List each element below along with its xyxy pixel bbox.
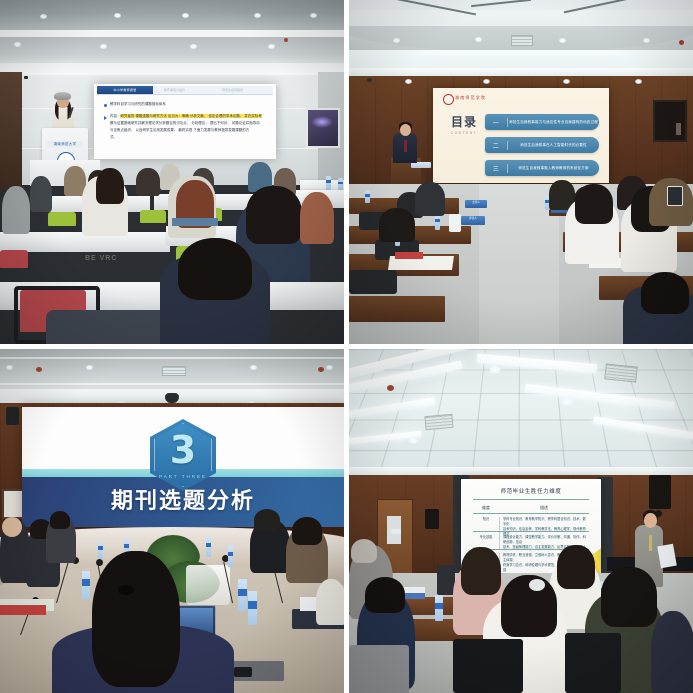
photo-bottom-right: 师范毕业生胜任力维度 维度 描述 知识 学科专业知识、教育教学知识、跨学科整合知… [349, 349, 693, 693]
bullet-triangle-icon [104, 116, 107, 120]
slide-menu-block: 目录 CONTENT [449, 116, 479, 135]
slide-menu-en: CONTENT [449, 131, 479, 135]
downlight-icon [561, 397, 573, 406]
ceiling-lower [0, 37, 344, 65]
wall-monitor [306, 108, 340, 148]
water-bottle [338, 178, 343, 190]
smoke-detector-icon [284, 38, 288, 42]
wall-top-trim [349, 467, 693, 475]
led-screen-bottom-left: 3 PART THREE 期刊选题分析 [22, 407, 344, 527]
downlight-icon [475, 37, 482, 42]
water-bottle [435, 595, 443, 621]
attendee-hair [50, 511, 70, 529]
downlight-icon [250, 365, 257, 370]
attendee-hair [601, 567, 657, 627]
lanyard [649, 535, 652, 551]
slide-item-text: 师范生自我叙事融入教师教育的系统化方案 [508, 166, 599, 171]
slide-row-dimension: 知识 [473, 517, 500, 537]
slide-heading: 教学科目学习与研究的课题指标体系 [110, 102, 166, 107]
scarf [172, 218, 218, 226]
chair-red [0, 250, 28, 268]
slide-section-number: 3 [150, 431, 216, 469]
cup [449, 214, 461, 232]
hair-clip [529, 579, 545, 591]
ceiling-seam [0, 357, 344, 359]
slide-tab-3-label: 师范生培养路径 [222, 87, 243, 93]
slide-rule-1 [473, 531, 589, 532]
downlight-icon [643, 38, 650, 43]
chair [565, 633, 621, 693]
slide-menu-cn: 目录 [449, 116, 479, 129]
slide-content-item-2: 二 师范生自我叙事在人工智能时代的必要性 [485, 137, 599, 153]
attendee-head [2, 517, 22, 537]
projection-screen-top-right: 湖南师范学院 目录 CONTENT 一 师范生自我叙事能力与适应性专业自我建构的… [433, 88, 609, 183]
slide-col-2: 描述 [499, 505, 589, 511]
slide-body-highlight: 研究者的 课题选题与研究方法 应当为：明确 分析文献， 设定合理的学术论题， 并… [120, 114, 261, 118]
slide-item-number: 三 [485, 164, 508, 173]
downlight-icon [635, 79, 642, 84]
downlight-icon [6, 365, 13, 370]
downlight-icon [86, 365, 93, 370]
ceiling-vent [511, 35, 533, 46]
speaker-head [400, 124, 411, 136]
slide-content-item-3: 三 师范生自我叙事融入教师教育的系统化方案 [485, 160, 599, 176]
glass-centerpiece [186, 565, 230, 605]
smoke-detector-icon [36, 367, 42, 372]
downlight-icon [14, 42, 21, 47]
ceiling-vent [604, 363, 637, 382]
attendee-hair [96, 168, 124, 204]
downlight-icon [40, 14, 47, 19]
downlight-icon [563, 79, 570, 84]
slide-item-text: 师范生自我叙事能力与适应性专业自我建构的动态过程 [508, 120, 599, 125]
desk-placard: 评议人 [461, 216, 485, 225]
attendee [136, 168, 160, 196]
wall-speaker [6, 407, 19, 425]
attendee [379, 208, 415, 242]
slide-item-text: 师范生自我叙事在人工智能时代的必要性 [508, 143, 599, 148]
microphone-head-icon [96, 559, 103, 566]
downlight-icon [310, 13, 317, 18]
ceiling-seam [0, 30, 344, 37]
attendee-hair [365, 577, 405, 613]
attendee [651, 611, 693, 693]
slide-tab-active-label: 中小学教师质量 [97, 86, 153, 94]
slide-item-number: 二 [485, 141, 508, 150]
camera-dome-icon [165, 393, 179, 403]
downlight-icon [393, 38, 400, 43]
speaker-beret [54, 92, 71, 100]
projection-screen-top-left: 中小学教师质量 教育承载力提升 师范生培养路径 教学科目学习与研究的课题指标体系… [94, 84, 276, 159]
frame-scroll [676, 123, 681, 135]
slide-row-desc-line1: 学科专业知识、教育教学知识、跨学科整合知识、技术、数字化 [503, 517, 589, 527]
phone-icon [667, 186, 683, 206]
ceiling-seam [0, 383, 344, 385]
ceiling-vent [424, 414, 453, 430]
attendee-hair [292, 517, 322, 545]
side-wall-wood [0, 72, 22, 190]
photo-collage: 中小学教师质量 教育承载力提升 师范生培养路径 教学科目学习与研究的课题指标体系… [0, 0, 693, 693]
red-folder [0, 605, 46, 615]
downlight-icon [268, 44, 275, 49]
slide-row-desc: 学科专业知识、教育教学知识、跨学科整合知识、技术、数字化 技术知识、信息素养、学… [500, 517, 589, 537]
attendee [300, 192, 334, 244]
slide-table-head: 维度 描述 [473, 505, 589, 511]
water-bottle [98, 541, 103, 559]
jacket-text: BE VRC [85, 255, 117, 262]
attendee [30, 176, 52, 212]
desk-placard: 主持人 [465, 200, 487, 208]
water-bottle [82, 571, 90, 599]
monitor-glow [311, 116, 333, 128]
placard-label: 评议人 [461, 216, 485, 222]
wall-speaker [425, 509, 439, 529]
downlight-icon [483, 79, 490, 84]
slide-body-label: 内容： [110, 114, 120, 118]
smoke-detector-icon [387, 385, 394, 391]
attendee-hand [316, 579, 344, 625]
slide-row-desc-line1: 课程设计能力、课堂教学能力、评价诊断、沟通、协作、科研创新、信息 [503, 535, 589, 545]
chair-cover [349, 645, 409, 693]
audience-desk [349, 296, 445, 322]
attendee-hair [557, 545, 595, 589]
door-sign [391, 529, 401, 534]
red-book [395, 252, 423, 259]
smoke-detector-icon [679, 40, 684, 45]
attendee-hair-grey [351, 539, 377, 563]
slide-body-line-3: 与论焦点组织， 以及研学生论用发展成果， 最终实现 下面力发展与教师指导发展课题… [110, 128, 249, 133]
chair [453, 639, 523, 693]
water-bottle [238, 579, 247, 611]
slide-section-label: PART THREE [150, 474, 216, 479]
slide-section-title: 期刊选题分析 [22, 483, 344, 515]
water-bottle [228, 545, 233, 567]
presenter-head [644, 513, 657, 528]
university-seal-icon [443, 94, 454, 105]
ceiling-vent [162, 366, 186, 376]
speaker-tie [404, 140, 407, 152]
water-bottle [206, 537, 211, 557]
water-bottle [435, 214, 440, 230]
slide-table-row: 知识 学科专业知识、教育教学知识、跨学科整合知识、技术、数字化 技术知识、信息素… [473, 517, 589, 537]
slide-rule-top [473, 499, 589, 500]
bullet-dot-icon [104, 104, 107, 107]
slide-body-line-1: 内容：研究者的 课题选题与研究方法 应当为：明确 分析文献， 设定合理的学术论题… [110, 114, 262, 119]
photo-top-right: 湖南师范学院 目录 CONTENT 一 师范生自我叙事能力与适应性专业自我建构的… [349, 0, 693, 344]
hair-tie [118, 585, 134, 595]
attendee [415, 182, 445, 216]
attendee [2, 186, 30, 234]
podium-plaque: 湖南师范大学 [47, 141, 83, 147]
wall-picture-frame [653, 100, 687, 142]
slide-body-line-2: 察与证据基础研究并解决理论学分析题目的讨论点， 分析理论， 提出下列对， 问题论… [110, 121, 260, 126]
placard-label: 主持人 [465, 200, 487, 206]
slide-col-1: 维度 [473, 505, 499, 511]
ceiling-upper [0, 0, 344, 30]
remote-control [234, 667, 252, 677]
camera-icon [367, 78, 372, 82]
downlight-icon [559, 38, 566, 43]
downlight-icon [254, 13, 261, 18]
attendee-foreground-head [178, 238, 252, 300]
water-bottle [248, 591, 257, 625]
slide-logo-text: 湖南师范学院 [455, 95, 486, 101]
downlight-icon [489, 365, 501, 374]
slide-tab-2-label: 教育承载力提升 [164, 87, 185, 93]
attendee-foreground-hair [92, 551, 180, 687]
chair [349, 270, 397, 294]
attendee-hair [254, 509, 280, 531]
downlight-icon [100, 44, 107, 49]
downlight-icon [405, 79, 412, 84]
backpack [46, 310, 172, 344]
water-bottle [326, 176, 331, 190]
downlight-icon [409, 437, 418, 444]
chair-green [48, 212, 76, 226]
downlight-icon [326, 365, 333, 370]
slide-hexagon-badge: 3 PART THREE [150, 419, 216, 491]
chair-green [140, 210, 166, 223]
attendee-hair [461, 547, 501, 595]
slide-rule-head [473, 513, 589, 514]
photo-bottom-left: 3 PART THREE 期刊选题分析 [0, 349, 344, 693]
downlight-icon [190, 44, 197, 49]
attendee-hair [246, 186, 302, 244]
camera-icon [24, 76, 28, 79]
attendee-hair [641, 272, 689, 314]
slide-item-number: 一 [485, 118, 508, 127]
downlight-icon [114, 13, 121, 18]
slide-tab-active: 中小学教师质量 [97, 86, 153, 94]
water-bottle [365, 190, 370, 203]
slide-body-line-4: 式。 [110, 135, 117, 140]
photo-top-left: 中小学教师质量 教育承载力提升 师范生培养路径 教学科目学习与研究的课题指标体系… [0, 0, 344, 344]
wall-speaker [649, 475, 671, 509]
downlight-icon [182, 13, 189, 18]
smoke-detector-icon [318, 367, 324, 372]
attendee-hair [575, 184, 613, 224]
slide-content-item-1: 一 师范生自我叙事能力与适应性专业自我建构的动态过程 [485, 114, 599, 130]
slide-title: 师范毕业生胜任力维度 [461, 487, 601, 495]
